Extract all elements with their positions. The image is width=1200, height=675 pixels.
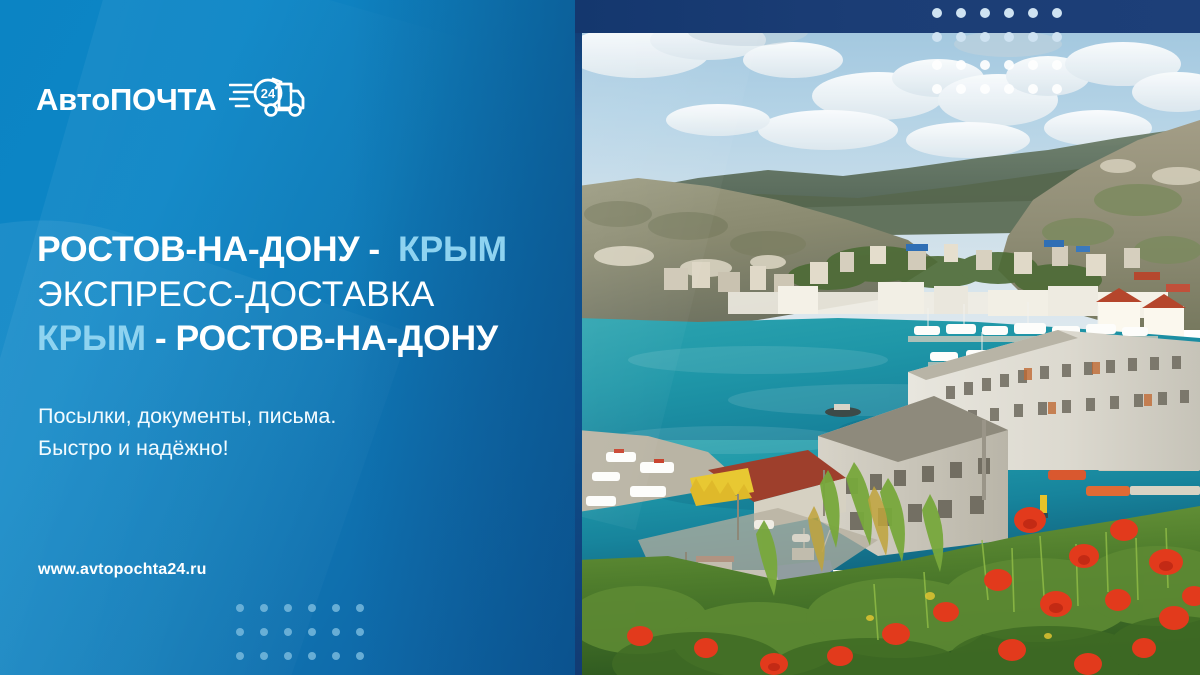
balaklava-bay-photo <box>578 0 1200 675</box>
headline-dash-2: - <box>155 318 167 358</box>
navy-top-bar <box>575 0 1200 33</box>
promo-banner: АвтоПОЧТА 24 <box>0 0 1200 675</box>
dot-grid-bottom-left <box>236 604 366 675</box>
svg-text:24: 24 <box>260 86 275 101</box>
subtitle-line-1: Посылки, документы, письма. <box>38 401 336 433</box>
headline-route-origin: РОСТОВ-НА-ДОНУ <box>37 229 359 269</box>
delivery-truck-24-icon: 24 <box>229 72 307 127</box>
brand-logo[interactable]: АвтоПОЧТА 24 <box>36 72 307 127</box>
dot-grid-top-right <box>932 8 1066 105</box>
headline-line-1: РОСТОВ-НА-ДОНУ-КРЫМ <box>37 232 507 268</box>
headline-block: РОСТОВ-НА-ДОНУ-КРЫМ ЭКСПРЕСС-ДОСТАВКА КР… <box>37 232 507 357</box>
photo-left-edge-strip <box>575 0 582 675</box>
headline-line-2: ЭКСПРЕСС-ДОСТАВКА <box>37 277 507 313</box>
headline-line-3: КРЫМ-РОСТОВ-НА-ДОНУ <box>37 321 507 357</box>
headline-return-origin: КРЫМ <box>37 318 146 358</box>
headline-dash-1: - <box>368 229 380 269</box>
headline-route-destination: КРЫМ <box>398 229 507 269</box>
subtitle-block: Посылки, документы, письма. Быстро и над… <box>38 401 336 464</box>
website-url[interactable]: www.avtopochta24.ru <box>38 561 207 579</box>
headline-return-destination: РОСТОВ-НА-ДОНУ <box>176 318 498 358</box>
subtitle-line-2: Быстро и надёжно! <box>38 433 336 465</box>
brand-logo-text: АвтоПОЧТА <box>36 84 217 115</box>
